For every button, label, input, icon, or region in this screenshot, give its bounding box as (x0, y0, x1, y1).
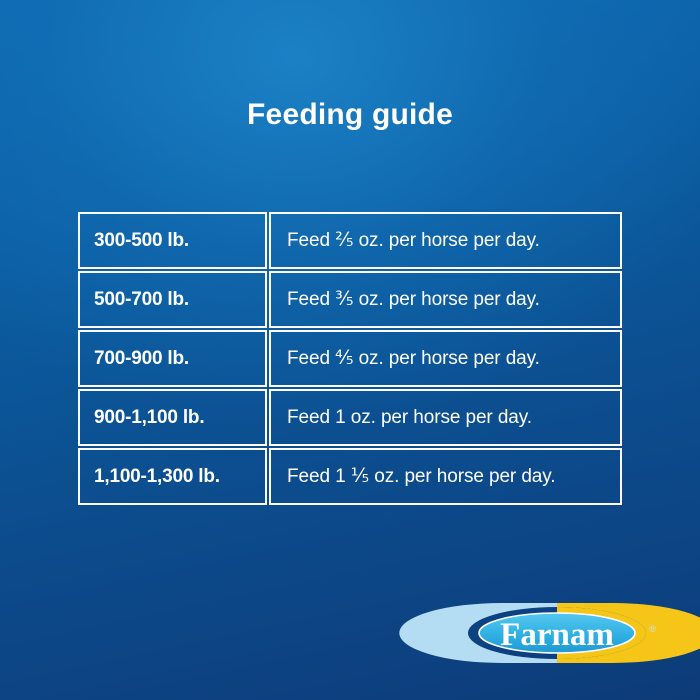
weight-range-cell: 700-900 lb. (78, 330, 267, 387)
page-title: Feeding guide (0, 96, 700, 134)
feeding-instruction-cell: Feed 1 ⅕ oz. per horse per day. (269, 448, 622, 505)
feeding-guide-panel: Feeding guide 300-500 lb. Feed ⅖ oz. per… (0, 0, 700, 700)
table-row: 500-700 lb. Feed ⅗ oz. per horse per day… (78, 271, 622, 328)
table-row: 300-500 lb. Feed ⅖ oz. per horse per day… (78, 212, 622, 269)
feeding-instruction-cell: Feed ⅘ oz. per horse per day. (269, 330, 622, 387)
table-row: 700-900 lb. Feed ⅘ oz. per horse per day… (78, 330, 622, 387)
feeding-instruction-cell: Feed 1 oz. per horse per day. (269, 389, 622, 446)
feeding-instruction-cell: Feed ⅗ oz. per horse per day. (269, 271, 622, 328)
table-row: 1,100-1,300 lb. Feed 1 ⅕ oz. per horse p… (78, 448, 622, 505)
weight-range-cell: 900-1,100 lb. (78, 389, 267, 446)
table-row: 900-1,100 lb. Feed 1 oz. per horse per d… (78, 389, 622, 446)
logo-wordmark: Farnam (500, 617, 614, 653)
weight-range-cell: 1,100-1,300 lb. (78, 448, 267, 505)
farnam-logo: Farnam ® (462, 601, 652, 665)
registered-trademark-icon: ® (649, 625, 656, 634)
feeding-instruction-cell: Feed ⅖ oz. per horse per day. (269, 212, 622, 269)
feeding-guide-table: 300-500 lb. Feed ⅖ oz. per horse per day… (78, 212, 622, 505)
weight-range-cell: 300-500 lb. (78, 212, 267, 269)
weight-range-cell: 500-700 lb. (78, 271, 267, 328)
farnam-logo-mark: Farnam (462, 601, 652, 665)
